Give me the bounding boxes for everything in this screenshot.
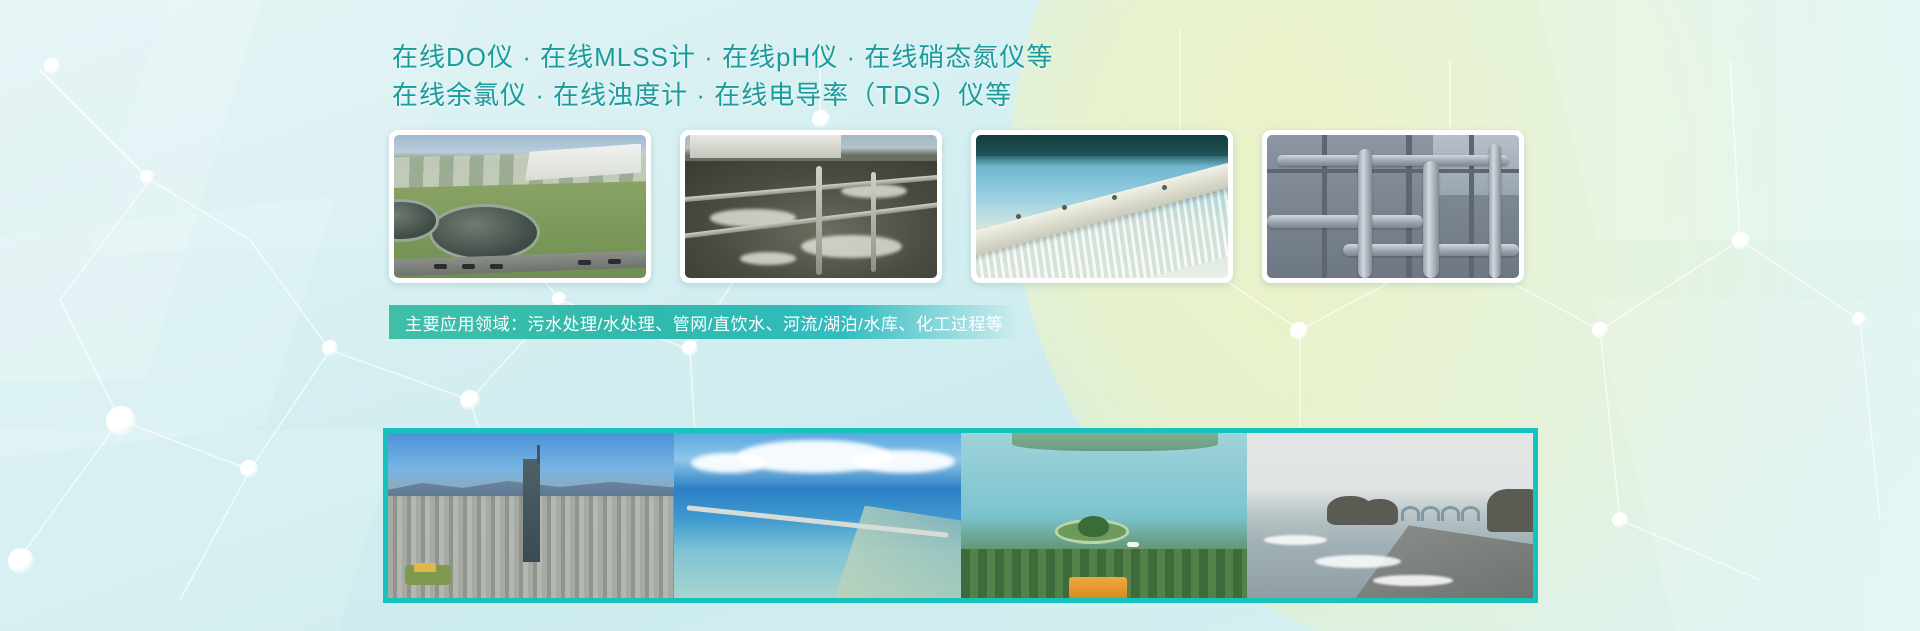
coastal-bridge-aerial-image[interactable] [674, 433, 960, 598]
bridge-arch [1401, 506, 1420, 521]
yellow-roof-building [414, 563, 436, 572]
weir-post [1062, 205, 1067, 210]
industrial-piping-plant-image [1267, 135, 1519, 278]
network-node [322, 340, 338, 356]
surf-foam [1264, 535, 1327, 545]
far-bank [976, 135, 1228, 156]
vertical-pipe [816, 166, 822, 275]
cloud [852, 450, 955, 473]
aeration-basin-tanks-image [685, 135, 937, 278]
cloud [691, 453, 765, 473]
boat [1127, 542, 1139, 547]
plant-building [690, 135, 841, 158]
island-trees [1078, 516, 1109, 537]
product-photo-card[interactable] [389, 130, 651, 283]
car [462, 264, 475, 269]
taipei-city-skyline-image[interactable] [388, 433, 674, 598]
car [608, 259, 621, 264]
product-photo-cards [389, 130, 1524, 283]
vertical-pipe [1423, 161, 1439, 278]
clarifier-tank [429, 204, 540, 261]
bridge-arch [1461, 506, 1480, 521]
network-node [460, 390, 480, 410]
network-node [1592, 322, 1608, 338]
headland-rock [1487, 489, 1533, 532]
scenery-photo-strip [383, 428, 1538, 603]
foam-patch [740, 252, 795, 265]
car [578, 260, 591, 265]
headline: 在线DO仪 · 在线MLSS计 · 在线pH仪 · 在线硝态氮仪等 在线余氯仪 … [392, 38, 1053, 115]
banner-root: 在线DO仪 · 在线MLSS计 · 在线pH仪 · 在线硝态氮仪等 在线余氯仪 … [0, 0, 1920, 631]
network-node [8, 548, 34, 574]
network-node [1852, 312, 1866, 326]
weir-post [1016, 214, 1021, 219]
product-photo-card[interactable] [680, 130, 942, 283]
taipei-101-tower [523, 459, 540, 561]
product-photo-card[interactable] [971, 130, 1233, 283]
vertical-pipe [1358, 149, 1372, 278]
network-node [682, 340, 698, 356]
reef-shallows [835, 506, 961, 598]
wastewater-treatment-plant-aerial-image [394, 135, 646, 278]
bridge-arch [1441, 506, 1460, 521]
steel-beam [1267, 169, 1519, 173]
application-field-bar: 主要应用领域：污水处理/水处理、管网/直饮水、河流/湖泊/水库、化工过程等 [389, 305, 1019, 339]
car [434, 264, 447, 269]
vertical-pipe [1489, 144, 1501, 278]
horizontal-pipe [1277, 155, 1509, 166]
tower-spire [537, 445, 540, 465]
product-photo-card[interactable] [1262, 130, 1524, 283]
headline-line-1: 在线DO仪 · 在线MLSS计 · 在线pH仪 · 在线硝态氮仪等 [392, 38, 1053, 76]
network-node [552, 292, 566, 306]
network-node [44, 58, 60, 74]
headland-rock [1361, 499, 1398, 525]
water-weir-overflow-image [976, 135, 1228, 278]
far-shore [1012, 433, 1218, 451]
car [490, 264, 503, 269]
network-node [1612, 512, 1628, 528]
lake-island-aerial-image[interactable] [961, 433, 1247, 598]
network-node [140, 170, 154, 184]
network-node [1732, 232, 1750, 250]
sanxiantai-arch-bridge-coast-image[interactable] [1247, 433, 1533, 598]
temple-roof [1069, 577, 1126, 598]
vertical-pipe [871, 172, 876, 272]
network-node [240, 460, 258, 478]
application-field-label: 主要应用领域：污水处理/水处理、管网/直饮水、河流/湖泊/水库、化工过程等 [405, 310, 1003, 335]
road [394, 251, 646, 277]
horizontal-pipe [1267, 215, 1423, 228]
headline-line-2: 在线余氯仪 · 在线浊度计 · 在线电导率（TDS）仪等 [392, 76, 1053, 114]
network-node [1290, 322, 1308, 340]
network-node [106, 406, 136, 436]
bridge-arch [1421, 506, 1440, 521]
